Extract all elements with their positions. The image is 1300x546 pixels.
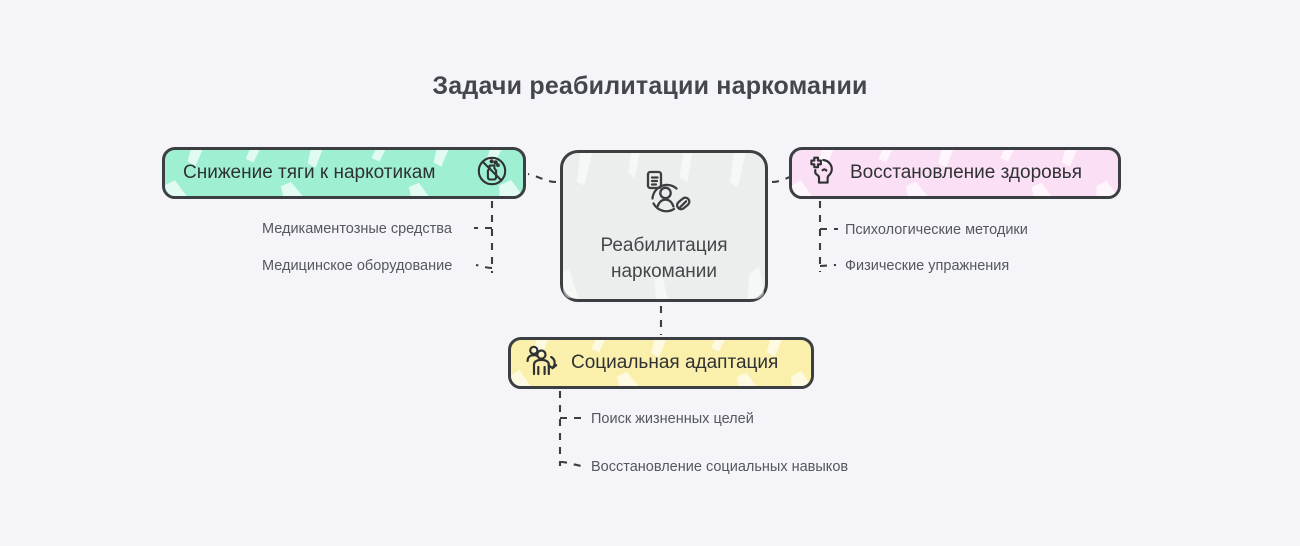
node-right[interactable]: Восстановление здоровья	[789, 147, 1121, 199]
node-center[interactable]: Реабилитация наркомании	[560, 150, 768, 302]
mindmap-canvas: Задачи реабилитации наркомании	[0, 0, 1300, 546]
node-left-label: Снижение тяги к наркотикам	[183, 161, 435, 185]
leaf-right-2[interactable]: Физические упражнения	[845, 258, 1009, 274]
node-right-label: Восстановление здоровья	[850, 161, 1082, 185]
node-left[interactable]: Снижение тяги к наркотикам	[162, 147, 526, 199]
leaf-bottom-1[interactable]: Поиск жизненных целей	[591, 411, 754, 427]
node-center-label: Реабилитация наркомании	[563, 233, 765, 284]
connector-left-child-2	[476, 265, 492, 268]
leaf-right-1[interactable]: Психологические методики	[845, 222, 1028, 238]
page-title: Задачи реабилитации наркомании	[0, 72, 1300, 101]
connector-bottom-child-2	[560, 462, 582, 466]
leaf-left-1[interactable]: Медикаментозные средства	[262, 221, 452, 237]
connector-right-child-2	[820, 265, 836, 266]
connector-center-left	[528, 174, 556, 182]
leaf-left-2[interactable]: Медицинское оборудование	[262, 258, 452, 274]
people-group-arrow-icon	[523, 343, 561, 384]
person-document-pill-icon	[634, 168, 694, 221]
no-drugs-icon	[475, 154, 509, 193]
node-bottom-label: Социальная адаптация	[571, 351, 778, 375]
leaf-bottom-2[interactable]: Восстановление социальных навыков	[591, 459, 848, 475]
head-medical-cross-icon	[804, 153, 840, 194]
node-bottom[interactable]: Социальная адаптация	[508, 337, 814, 389]
